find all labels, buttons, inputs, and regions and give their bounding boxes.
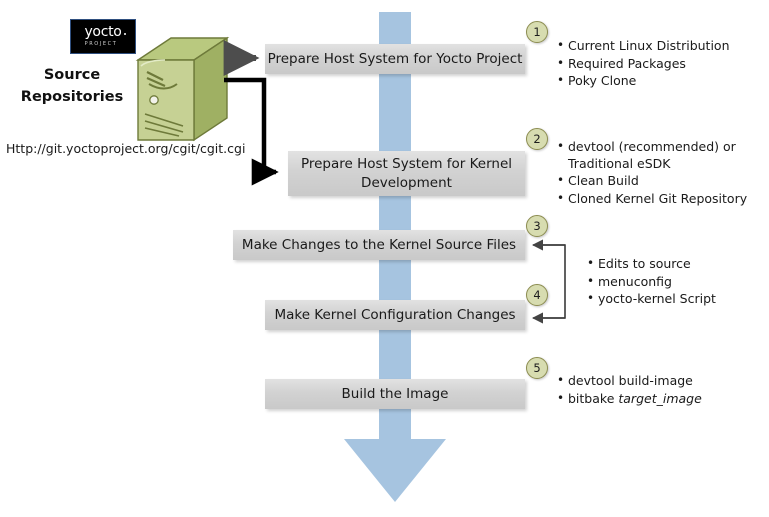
source-repositories-label-line1: Source: [8, 64, 136, 86]
note-item: Required Packages: [568, 56, 764, 73]
step-notes-3-4: Edits to source menuconfig yocto-kernel …: [584, 256, 764, 309]
step-notes-2: devtool (recommended) or Traditional eSD…: [554, 139, 766, 208]
server-tower-icon: [135, 36, 230, 146]
yocto-logo-wordmark: yocto: [71, 24, 135, 40]
note-item: Cloned Kernel Git Repository: [568, 191, 766, 208]
step-box-4[interactable]: Make Kernel Configuration Changes: [265, 300, 525, 330]
diagram-canvas: yocto PROJECT Source Repositories Http:/…: [0, 0, 769, 517]
flow-arrow-head-icon: [344, 439, 446, 502]
note-text-italic: target_image: [618, 391, 701, 406]
step-box-4-label: Make Kernel Configuration Changes: [274, 306, 515, 325]
step-notes-1: Current Linux Distribution Required Pack…: [554, 38, 764, 91]
step-box-2-label: Prepare Host System for Kernel Developme…: [288, 155, 525, 193]
step-box-5[interactable]: Build the Image: [265, 379, 525, 409]
source-repositories-label: Source Repositories: [8, 64, 136, 108]
note-item: Clean Build: [568, 173, 766, 190]
note-item: bitbake target_image: [568, 391, 764, 408]
yocto-logo-dot-icon: [124, 33, 126, 35]
note-item: Poky Clone: [568, 73, 764, 90]
flow-arrow-shaft: [379, 12, 411, 442]
note-text: bitbake: [568, 391, 618, 406]
step-number-badge-4: 4: [526, 284, 548, 306]
bracket-steps-3-4: [537, 245, 565, 318]
note-item: menuconfig: [598, 274, 764, 291]
step-number-badge-5: 5: [526, 357, 548, 379]
step-number-badge-3: 3: [526, 215, 548, 237]
note-item: devtool (recommended) or Traditional eSD…: [568, 139, 766, 172]
step-box-5-label: Build the Image: [342, 385, 449, 404]
note-text: devtool build-image: [568, 373, 693, 388]
step-notes-5: devtool build-image bitbake target_image: [554, 373, 764, 408]
note-item: yocto-kernel Script: [598, 291, 764, 308]
note-item: devtool build-image: [568, 373, 764, 390]
note-item: Current Linux Distribution: [568, 38, 764, 55]
arrow-server-to-step2: [224, 80, 276, 172]
step-box-1[interactable]: Prepare Host System for Yocto Project: [265, 44, 525, 74]
note-item: Edits to source: [598, 256, 764, 273]
yocto-project-logo: yocto PROJECT: [70, 19, 136, 54]
step-box-3[interactable]: Make Changes to the Kernel Source Files: [233, 230, 525, 260]
step-number-badge-2: 2: [526, 128, 548, 150]
step-box-3-label: Make Changes to the Kernel Source Files: [242, 236, 516, 255]
step-box-2[interactable]: Prepare Host System for Kernel Developme…: [288, 151, 525, 196]
yocto-logo-subtext: PROJECT: [71, 41, 131, 47]
source-repositories-label-line2: Repositories: [8, 86, 136, 108]
step-box-1-label: Prepare Host System for Yocto Project: [268, 50, 523, 69]
step-number-badge-1: 1: [526, 21, 548, 43]
